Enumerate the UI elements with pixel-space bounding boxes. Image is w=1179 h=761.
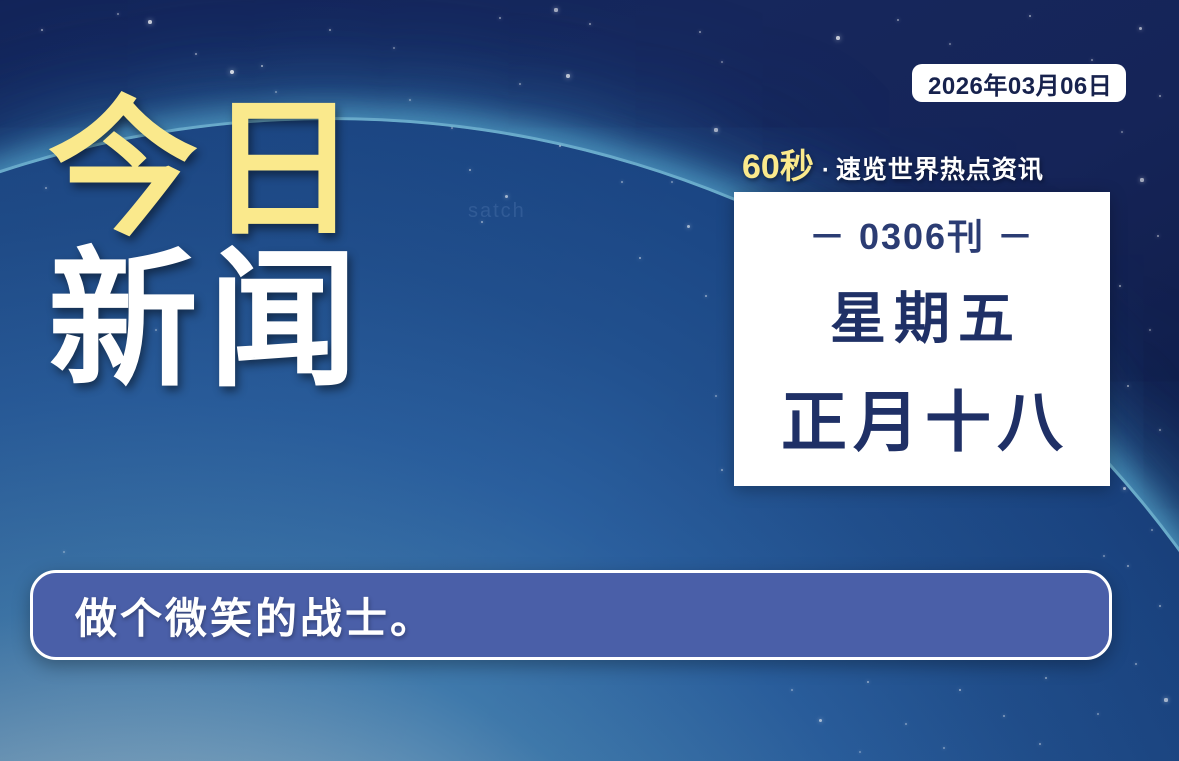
- tagline-text: 速览世界热点资讯: [836, 150, 1044, 186]
- date-badge: 2026年03月06日: [912, 64, 1126, 102]
- quote-banner: 做个微笑的战士。: [30, 570, 1112, 660]
- tagline: 60秒 · 速览世界热点资讯: [742, 139, 1044, 188]
- lunar-date-label: 正月十八: [775, 369, 1069, 465]
- title-line-today: 今日: [48, 98, 468, 241]
- issue-number: － 0306刊 －: [809, 208, 1035, 260]
- date-badge-label: 2026年03月06日: [928, 66, 1112, 101]
- news-poster: satch 2026年03月06日 今日 新闻 60秒 · 速览世界热点资讯 －…: [0, 0, 1179, 761]
- title-line-news: 新闻: [48, 249, 468, 392]
- tagline-separator-dot: ·: [814, 157, 836, 185]
- poster-title: 今日 新闻: [48, 98, 468, 391]
- quote-text: 做个微笑的战士。: [33, 585, 435, 646]
- date-info-card: － 0306刊 － 星期五 正月十八: [734, 192, 1110, 486]
- tagline-seconds: 60秒: [742, 139, 814, 188]
- weekday-label: 星期五: [822, 274, 1022, 355]
